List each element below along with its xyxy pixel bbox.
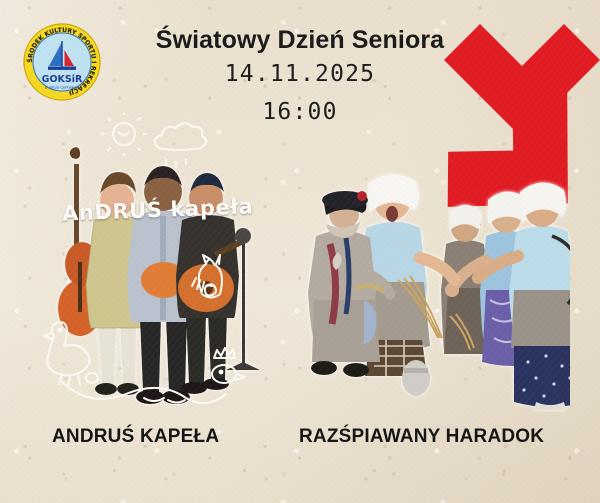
page-title: Światowy Dzień Seniora — [0, 26, 600, 55]
figure-man-in-cap — [308, 191, 390, 377]
cloud-doodle — [155, 123, 206, 167]
caption-andrus-kapela: ANDRUŚ KAPEŁA — [52, 426, 219, 448]
crowned-bird-doodle — [212, 348, 245, 383]
caption-razspiawany-haradok: RAZŚPIAWANY HARADOK — [299, 426, 544, 448]
goose-doodle — [44, 322, 98, 386]
poster-canvas: GOKSiR Dubicze Cerkiewne GMINNY OŚRODEK … — [0, 0, 600, 503]
doodle-layer-andrus — [36, 112, 272, 412]
photo-razspiawany-haradok — [300, 140, 570, 412]
wave-doodle — [62, 382, 226, 403]
event-date: 14.11.2025 — [0, 61, 600, 87]
sun-doodle — [102, 114, 146, 156]
cat-doodle — [192, 255, 222, 298]
